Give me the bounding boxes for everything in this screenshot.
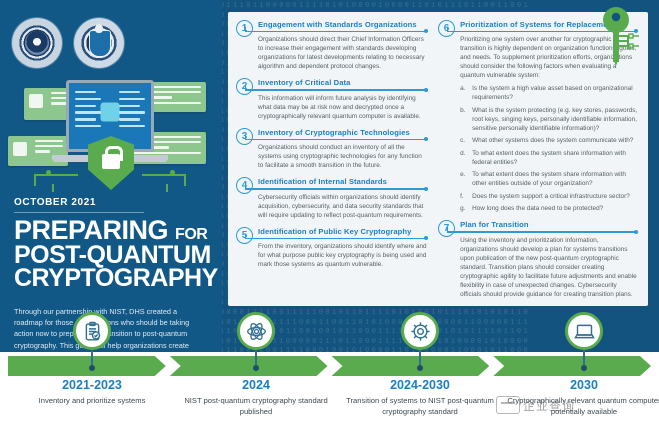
step-underline <box>245 89 428 90</box>
sublist-label: d. <box>460 149 467 167</box>
page-title: PREPARING FOR POST-QUANTUM CRYPTOGRAPHY <box>14 218 214 291</box>
sublist-label: e. <box>460 170 467 188</box>
sublist-item: a.Is the system a high value asset based… <box>460 84 638 102</box>
sublist-item: c.What other systems does the system com… <box>460 136 638 145</box>
timeline-year: 2030 <box>504 378 659 392</box>
timeline-marker-dot <box>253 365 259 371</box>
sublist-label: a. <box>460 84 467 102</box>
publication-date: OCTOBER 2021 <box>14 197 96 208</box>
sublist-text: What is the system protecting (e.g. key … <box>472 106 638 133</box>
screen-text-lines <box>75 91 101 132</box>
step-underline <box>447 231 638 232</box>
step-item-2: 2Inventory of Critical DataThis informat… <box>236 78 428 120</box>
step-heading: Identification of Public Key Cryptograph… <box>258 227 428 238</box>
timeline-year: 2024 <box>176 378 336 392</box>
step-body-text: Using the inventory and prioritization i… <box>460 236 638 299</box>
step-body-text: This information will inform future anal… <box>258 94 428 121</box>
atom-icon <box>237 312 275 350</box>
sublist-item: g.How long does the data need to be prot… <box>460 204 638 213</box>
clipboard-check-icon <box>73 312 111 350</box>
sublist-text: What other systems does the system commu… <box>472 136 633 145</box>
chip-icon <box>101 103 120 122</box>
step-heading: Inventory of Critical Data <box>258 78 428 89</box>
laptop-icon <box>565 312 603 350</box>
watermark-text: 企业查询 <box>523 397 575 414</box>
timeline-marker-dot <box>89 365 95 371</box>
file-icon <box>13 142 27 156</box>
timeline-item-2: 2024NIST post-quantum cryptography stand… <box>176 312 336 417</box>
timeline-marker-dot <box>417 365 423 371</box>
sublist-label: b. <box>460 106 467 133</box>
gear-icon <box>401 312 439 350</box>
sublist-text: To what extent does the system share inf… <box>472 149 638 167</box>
step-sublist: a.Is the system a high value asset based… <box>460 84 638 213</box>
key-icon <box>595 6 641 66</box>
sublist-text: To what extent does the system share inf… <box>472 170 638 188</box>
step-heading: Engagement with Standards Organizations <box>258 20 428 31</box>
step-body-text: Organizations should conduct an inventor… <box>258 143 428 170</box>
title-line-3: CRYPTOGRAPHY <box>14 267 214 291</box>
sublist-item: d.To what extent does the system share i… <box>460 149 638 167</box>
steps-panel: 1Engagement with Standards Organizations… <box>228 12 648 306</box>
agency-seals <box>12 18 124 68</box>
step-item-1: 1Engagement with Standards Organizations… <box>236 20 428 71</box>
sublist-item: b.What is the system protecting (e.g. ke… <box>460 106 638 133</box>
step-underline <box>245 139 428 140</box>
step-underline <box>245 31 428 32</box>
sublist-label: f. <box>460 192 467 201</box>
step-body-text: From the inventory, organizations should… <box>258 242 428 269</box>
timeline-year: 2021-2023 <box>12 378 172 392</box>
step-heading: Plan for Transition <box>460 220 638 231</box>
sublist-text: Does the system support a critical infra… <box>472 192 630 201</box>
timeline-description: Transition of systems to NIST post-quant… <box>340 395 500 417</box>
screen-text-lines <box>119 91 145 132</box>
timeline-marker-dot <box>581 365 587 371</box>
hero-illustration <box>8 74 213 192</box>
step-heading: Inventory of Cryptographic Technologies <box>258 128 428 139</box>
sublist-label: c. <box>460 136 467 145</box>
cisa-seal-icon <box>74 18 124 68</box>
timeline-description: Inventory and prioritize systems <box>12 395 172 406</box>
sublist-text: How long does the data need to be protec… <box>472 204 603 213</box>
step-heading: Identification of Internal Standards <box>258 177 428 188</box>
step-underline <box>245 188 428 189</box>
timeline-item-1: 2021-2023Inventory and prioritize system… <box>12 312 172 406</box>
steps-column-left: 1Engagement with Standards Organizations… <box>236 20 428 306</box>
step-item-5: 5Identification of Public Key Cryptograp… <box>236 227 428 269</box>
step-item-3: 3Inventory of Cryptographic Technologies… <box>236 128 428 170</box>
timeline-year: 2024-2030 <box>340 378 500 392</box>
timeline-item-3: 2024-2030Transition of systems to NIST p… <box>340 312 500 417</box>
step-item-4: 4Identification of Internal StandardsCyb… <box>236 177 428 219</box>
poster-canvas: 1111010011101011000010111101110110111011… <box>0 0 659 427</box>
user-avatar-icon <box>29 94 43 108</box>
watermark-overlay: 企业查询 <box>496 392 656 418</box>
title-divider <box>14 212 144 213</box>
step-item-7: 7Plan for TransitionUsing the inventory … <box>438 220 638 298</box>
sublist-label: g. <box>460 204 467 213</box>
sublist-item: e.To what extent does the system share i… <box>460 170 638 188</box>
timeline-description: NIST post-quantum cryptography standard … <box>176 395 336 417</box>
watermark-logo-icon <box>496 396 520 414</box>
sublist-item: f.Does the system support a critical inf… <box>460 192 638 201</box>
step-underline <box>245 238 428 239</box>
sublist-text: Is the system a high value asset based o… <box>472 84 638 102</box>
dhs-seal-icon <box>12 18 62 68</box>
step-body-text: Organizations should direct their Chief … <box>258 35 428 71</box>
step-body-text: Cybersecurity officials within organizat… <box>258 193 428 220</box>
